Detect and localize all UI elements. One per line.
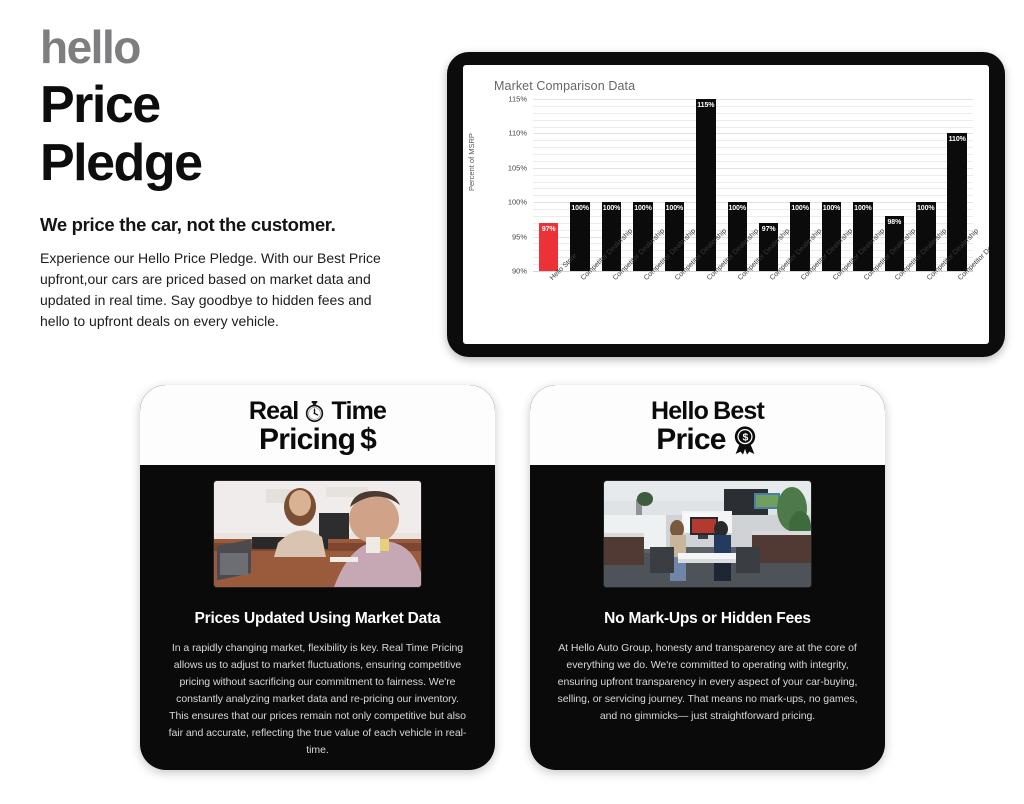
x-axis-label-slot: Competitor Dealership: [847, 273, 878, 343]
y-axis-tick-label: 100%: [508, 198, 527, 207]
tablet-screen: Market Comparison Data Percent of MSRP 9…: [463, 65, 989, 344]
x-axis-label-slot: Competitor Dealership: [690, 273, 721, 343]
card-header-word-1: Real: [249, 397, 299, 426]
x-axis-label-slot: Competitor Dealership: [753, 273, 784, 343]
chart-bar-value-label: 100%: [571, 205, 589, 212]
chart-bar-value-label: 100%: [917, 205, 935, 212]
chart-bar-value-label: 100%: [666, 205, 684, 212]
card-header-line-1: Hello Best: [651, 397, 764, 426]
y-axis-label: Percent of MSRP: [467, 71, 476, 191]
card-body-text: In a rapidly changing market, flexibilit…: [140, 628, 495, 759]
y-axis-tick-label: 115%: [508, 95, 527, 104]
hero-body-text: Experience our Hello Price Pledge. With …: [40, 248, 398, 331]
chart-bar-value-label: 110%: [949, 136, 966, 143]
x-axis-label-slot: Competitor Dealership: [941, 273, 972, 343]
chart-bar-value-label: 115%: [697, 102, 714, 109]
price-pledge-page: hello Price Pledge We price the car, not…: [0, 0, 1024, 804]
x-axis-label-slot: Hello Store: [533, 273, 564, 343]
card-header-line-2: Pricing $: [259, 423, 376, 457]
x-axis-label-slot: Competitor Dealership: [722, 273, 753, 343]
page-title-line-1: Price: [40, 76, 420, 134]
card-photo-office-desk: [214, 481, 421, 587]
card-heading: Prices Updated Using Market Data: [140, 610, 495, 628]
card-header-word-3: Pricing: [259, 423, 355, 457]
chart-bar-slot: 97%: [533, 99, 564, 271]
chart-bar-value-label: 100%: [854, 205, 872, 212]
card-header-line-1: Real Time: [249, 397, 386, 426]
x-axis-label-slot: Competitor Dealership: [879, 273, 910, 343]
x-axis-label-slot: Competitor Dealership: [627, 273, 658, 343]
page-title: Price Pledge: [40, 76, 420, 192]
chart-bars: 97%100%100%100%100%115%100%97%100%100%10…: [533, 99, 973, 271]
y-axis-tick-label: 90%: [512, 267, 527, 276]
hero-subheadline: We price the car, not the customer.: [40, 214, 420, 236]
card-header-word-1: Hello: [651, 397, 708, 426]
x-axis-labels: Hello StoreCompetitor DealershipCompetit…: [533, 273, 973, 343]
chart-bar-value-label: 100%: [791, 205, 809, 212]
brand-logo-hello: hello: [40, 24, 420, 70]
chart-bar-value-label: 100%: [634, 205, 652, 212]
card-heading: No Mark-Ups or Hidden Fees: [530, 610, 885, 628]
award-ribbon-dollar-icon: $: [731, 425, 759, 455]
hero-section: hello Price Pledge We price the car, not…: [40, 24, 420, 331]
card-header-line-2: Price $: [656, 423, 758, 457]
card-body-text: At Hello Auto Group, honesty and transpa…: [530, 628, 885, 725]
stopwatch-icon: [303, 400, 326, 423]
chart-bar-value-label: 97%: [762, 226, 776, 233]
chart-plot-area: Percent of MSRP 90%95%100%105%110%115% 9…: [463, 99, 983, 344]
x-axis-label-slot: Competitor Dealership: [910, 273, 941, 343]
dollar-sign-icon: $: [360, 423, 376, 457]
x-axis-label-slot: Competitor Dealership: [816, 273, 847, 343]
y-axis-tick-label: 95%: [512, 232, 527, 241]
chart-title: Market Comparison Data: [494, 79, 635, 93]
chart-bar-value-label: 97%: [542, 226, 556, 233]
page-title-line-2: Pledge: [40, 134, 420, 192]
chart-bar: 97%: [539, 223, 558, 271]
card-header-word-2: Best: [713, 397, 764, 426]
card-photo-showroom: [604, 481, 811, 587]
x-axis-label-slot: Competitor Dealership: [784, 273, 815, 343]
card-hello-best-price: Hello Best Price $: [530, 385, 885, 770]
y-axis-tick-label: 110%: [508, 129, 527, 138]
chart-bar-value-label: 100%: [823, 205, 841, 212]
x-axis-label-slot: Competitor Dealership: [564, 273, 595, 343]
x-axis-label-slot: Competitor Dealership: [596, 273, 627, 343]
chart-bar-slot: 100%: [564, 99, 595, 271]
chart-bar-value-label: 98%: [887, 219, 901, 226]
chart-bar-value-label: 100%: [728, 205, 746, 212]
card-header-word-3: Price: [656, 423, 725, 457]
tablet-device-frame: Market Comparison Data Percent of MSRP 9…: [447, 52, 1005, 357]
card-real-time-pricing: Real Time Pricing $: [140, 385, 495, 770]
card-header: Real Time Pricing $: [140, 385, 495, 465]
y-axis-ticks: 90%95%100%105%110%115%: [485, 99, 531, 271]
card-header-word-2: Time: [331, 397, 386, 426]
card-header: Hello Best Price $: [530, 385, 885, 465]
y-axis-tick-label: 105%: [508, 163, 527, 172]
x-axis-label-slot: Competitor Dealership: [659, 273, 690, 343]
chart-bar-value-label: 100%: [603, 205, 621, 212]
